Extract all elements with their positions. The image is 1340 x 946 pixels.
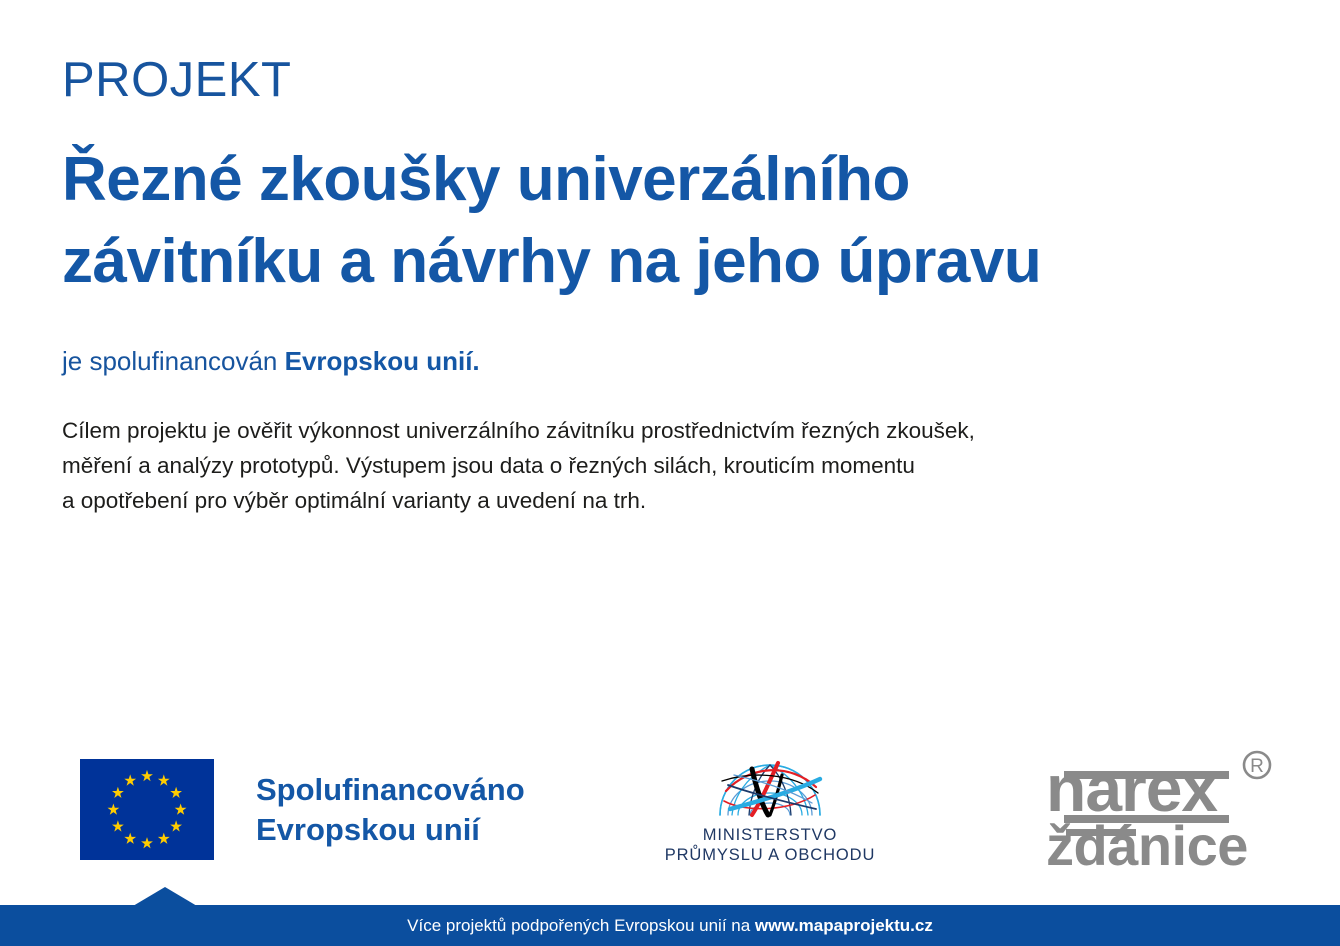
ministry-label-line-2: PRŮMYSLU A OBCHODU bbox=[645, 845, 895, 865]
eu-cofunding-logo: Spolufinancováno Evropskou unií bbox=[80, 759, 525, 860]
funding-subline: je spolufinancován Evropskou unií. bbox=[62, 345, 1262, 379]
registered-trademark-icon: R bbox=[1250, 756, 1264, 777]
eu-cofunding-label: Spolufinancováno Evropskou unií bbox=[256, 770, 525, 849]
ministry-label: MINISTERSTVO PRŮMYSLU A OBCHODU bbox=[645, 825, 895, 866]
project-description: Cílem projektu je ověřit výkonnost unive… bbox=[62, 414, 1262, 519]
poster-kicker: PROJEKT bbox=[62, 56, 1262, 105]
footer-peak-marker bbox=[133, 887, 197, 906]
page-title: Řezné zkoušky univerzálního závitníku a … bbox=[62, 139, 1252, 303]
footer-text: Více projektů podpořených Evropskou unií… bbox=[0, 905, 1340, 946]
poster-content: PROJEKT Řezné zkoušky univerzálního závi… bbox=[62, 56, 1262, 519]
funding-subline-prefix: je spolufinancován bbox=[62, 346, 285, 376]
footer-text-prefix: Více projektů podpořených Evropskou unií… bbox=[407, 916, 755, 935]
eu-label-line-1: Spolufinancováno bbox=[256, 770, 525, 810]
project-poster: PROJEKT Řezné zkoušky univerzálního závi… bbox=[0, 0, 1340, 946]
description-line-3: a opotřebení pro výběr optimální variant… bbox=[62, 484, 1262, 519]
eu-flag-icon bbox=[80, 759, 214, 860]
funding-subline-strong: Evropskou unií. bbox=[285, 346, 480, 376]
narex-zdanice-logo: narex ždánice R bbox=[1046, 749, 1286, 869]
headline-line-2: závitníku a návrhy na jeho úpravu bbox=[62, 221, 1252, 303]
ministry-label-line-1: MINISTERSTVO bbox=[645, 825, 895, 845]
description-line-2: měření a analýzy prototypů. Výstupem jso… bbox=[62, 449, 1262, 484]
logo-strip: Spolufinancováno Evropskou unií bbox=[0, 745, 1340, 880]
footer-url[interactable]: www.mapaprojektu.cz bbox=[755, 916, 933, 935]
ministry-globe-icon bbox=[716, 751, 824, 823]
eu-label-line-2: Evropskou unií bbox=[256, 810, 525, 850]
headline-line-1: Řezné zkoušky univerzálního bbox=[62, 139, 1252, 221]
description-line-1: Cílem projektu je ověřit výkonnost unive… bbox=[62, 414, 1262, 449]
ministry-logo: MINISTERSTVO PRŮMYSLU A OBCHODU bbox=[645, 751, 895, 866]
